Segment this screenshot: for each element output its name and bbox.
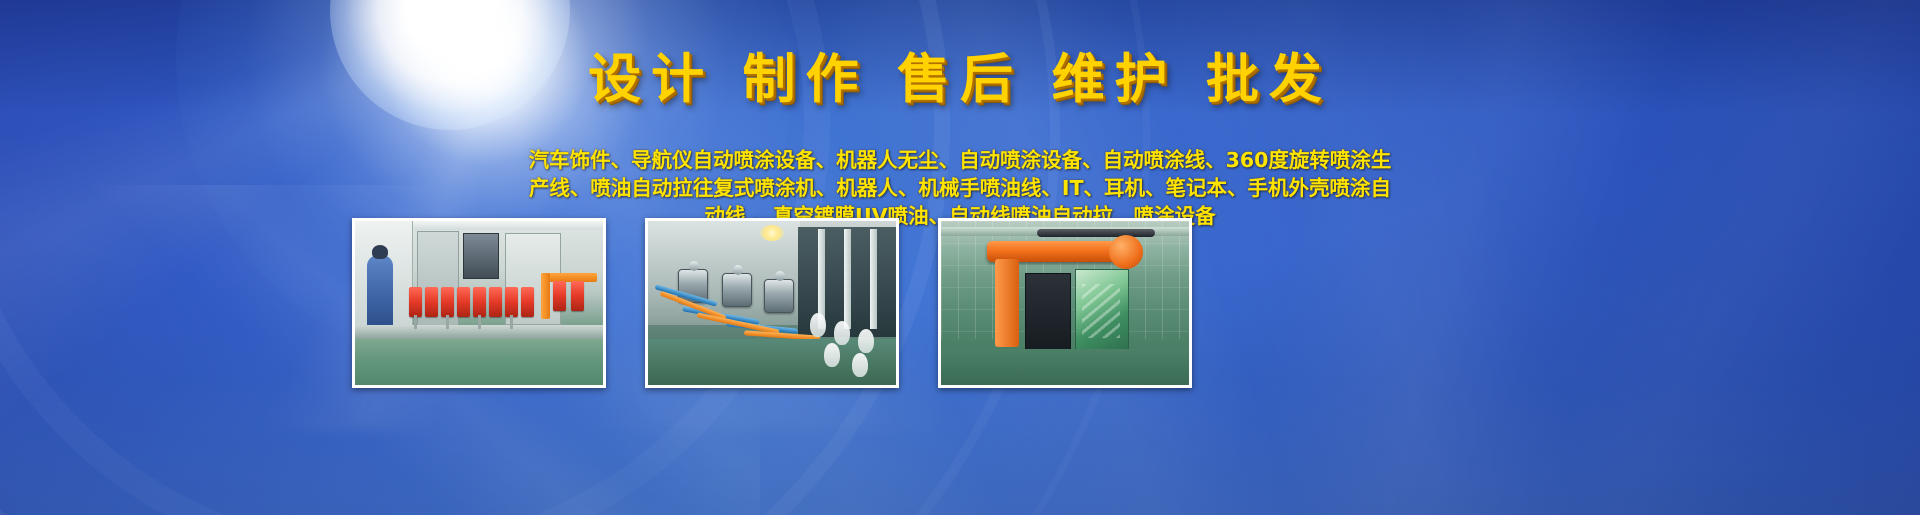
white-part	[834, 321, 850, 345]
spray-gun-photo-image	[648, 221, 896, 385]
subtitle-line-2: 产线、喷油自动拉往复式喷涂机、机器人、机械手喷油线、IT、耳机、笔记本、手机外壳…	[360, 174, 1560, 202]
vertical-post	[844, 229, 851, 329]
banner-headline: 设计 制作 售后 维护 批发	[0, 52, 1920, 108]
promo-banner: 设计 制作 售后 维护 批发 汽车饰件、导航仪自动喷涂设备、机器人无尘、自动喷涂…	[0, 0, 1920, 515]
robot-column	[995, 259, 1019, 347]
green-table	[355, 339, 603, 385]
red-fixture	[505, 287, 518, 317]
coating-line-photo-image	[355, 221, 603, 385]
white-part	[858, 329, 874, 353]
robot-arm-photo[interactable]	[938, 218, 1192, 388]
white-part	[810, 313, 826, 337]
orange-frame-side	[541, 273, 550, 319]
robot-joint	[1109, 235, 1143, 269]
white-part	[824, 343, 840, 367]
red-fixture	[489, 287, 502, 317]
red-fixture	[521, 287, 534, 317]
red-fixture	[473, 287, 486, 317]
fixture-stand	[478, 315, 481, 329]
banner-content: 设计 制作 售后 维护 批发 汽车饰件、导航仪自动喷涂设备、机器人无尘、自动喷涂…	[0, 0, 1920, 515]
red-fixture	[409, 287, 422, 317]
spray-gun-photo[interactable]	[645, 218, 899, 388]
red-fixture	[457, 287, 470, 317]
spray-gun	[722, 273, 752, 307]
red-fixture	[441, 287, 454, 317]
subtitle-line-1: 汽车饰件、导航仪自动喷涂设备、机器人无尘、自动喷涂设备、自动喷涂线、360度旋转…	[360, 146, 1560, 174]
worker-figure	[367, 255, 393, 329]
red-fixture	[425, 287, 438, 317]
ceiling-lamp	[760, 225, 784, 241]
vertical-post	[870, 229, 877, 329]
white-part	[852, 353, 868, 377]
black-cable	[1037, 229, 1155, 237]
black-workpiece	[1025, 273, 1071, 357]
spray-gun	[764, 279, 794, 313]
fixture-stand	[414, 315, 417, 329]
control-panel	[463, 233, 499, 279]
red-fixture	[553, 281, 566, 311]
booth-floor	[941, 349, 1189, 385]
coating-line-photo[interactable]	[352, 218, 606, 388]
fixture-stand	[510, 315, 513, 329]
red-fixture	[571, 281, 584, 311]
photo-gallery	[352, 218, 1192, 388]
robot-arm-photo-image	[941, 221, 1189, 385]
fixture-stand	[446, 315, 449, 329]
green-workpiece	[1075, 269, 1129, 357]
